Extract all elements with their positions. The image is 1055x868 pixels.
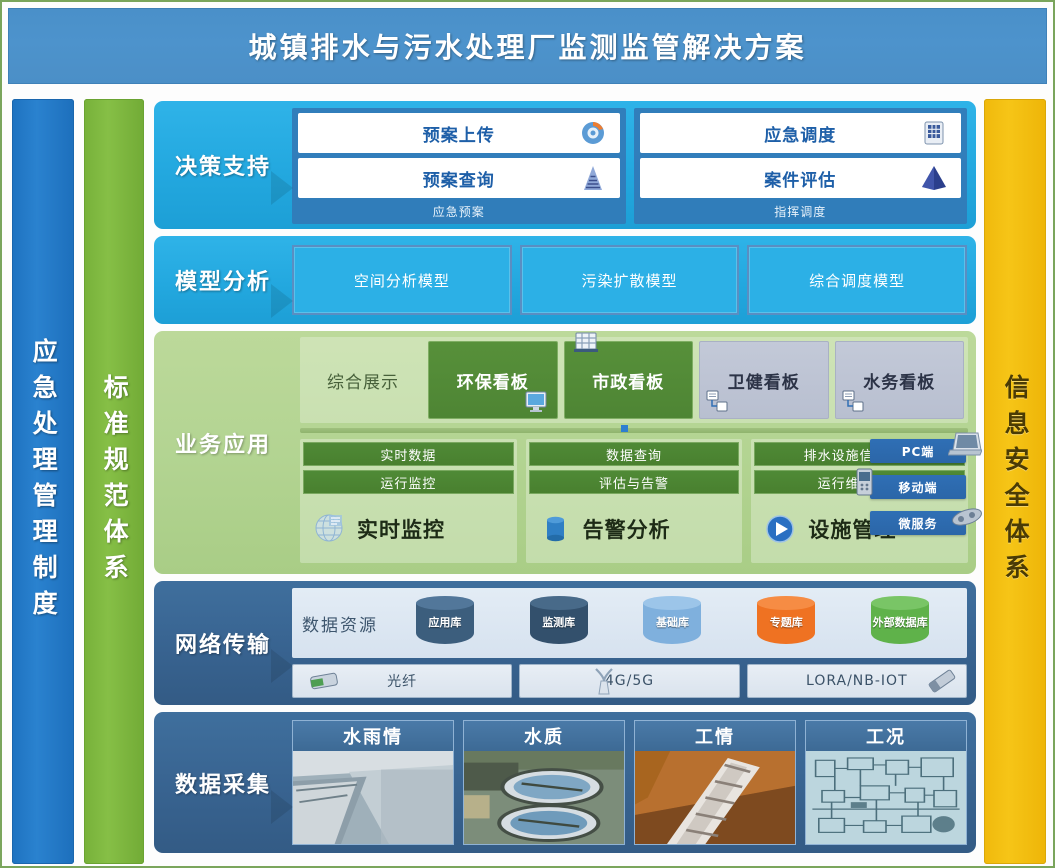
dashboard-title: 综合展示 <box>304 341 422 419</box>
transport-4g5g[interactable]: 4G/5G <box>519 664 739 698</box>
decision-group-command-dispatch-caption: 指挥调度 <box>640 203 962 222</box>
title-banner: 城镇排水与污水处理厂监测监管解决方案 <box>8 8 1047 84</box>
pyramid-layers-icon <box>578 163 608 193</box>
layer-model-analysis: 模型分析 空间分析模型 污染扩散模型 综合调度模型 <box>154 236 976 324</box>
laptop-icon <box>948 430 982 458</box>
dashboard-row: 综合展示 环保看板 市政看板 <box>300 337 968 423</box>
data-collection-item-hydrology[interactable]: 水雨情 <box>292 720 454 845</box>
grid-table-icon <box>919 118 949 148</box>
transport-lora-nbiot[interactable]: LORA/NB-IOT <box>747 664 967 698</box>
layer-stack: 决策支持 预案上传 <box>154 101 976 864</box>
page-title: 城镇排水与污水处理厂监测监管解决方案 <box>248 26 806 66</box>
database-foundation[interactable]: 基础库 <box>643 596 701 650</box>
business-feature-alarm-analysis[interactable]: 告警分析 <box>529 498 740 560</box>
model-item-pollution-diffusion[interactable]: 污染扩散模型 <box>520 245 740 315</box>
monitor-icon <box>523 388 549 414</box>
globe-icon <box>309 509 349 549</box>
sidebar-emergency-management: 应急处理管理制度 <box>12 99 74 864</box>
decision-item-plan-upload[interactable]: 预案上传 <box>298 113 620 153</box>
building-icon <box>573 330 599 356</box>
diagram-canvas: 城镇排水与污水处理厂监测监管解决方案 应急处理管理制度 标准规范体系 信息安全体… <box>0 0 1055 868</box>
sidebar-security-label: 信息安全体系 <box>1002 374 1028 590</box>
decision-item-case-evaluation[interactable]: 案件评估 <box>640 158 962 198</box>
sidebar-emergency-label: 应急处理管理制度 <box>30 338 56 626</box>
business-chip-realtime-data[interactable]: 实时数据 <box>303 442 514 466</box>
dashboard-card-municipal[interactable]: 市政看板 <box>564 341 694 419</box>
layer-business-application: 业务应用 综合展示 环保看板 <box>154 331 976 574</box>
network-node-icon <box>704 388 730 414</box>
device-pc-button[interactable]: PC端 <box>870 439 966 463</box>
play-circle-icon <box>760 509 800 549</box>
device-mobile-button[interactable]: 移动端 <box>870 475 966 499</box>
antenna-icon <box>592 666 616 696</box>
data-resource-strip: 数据资源 应用库 监测库 基础库 <box>292 588 967 658</box>
pyramid-3d-icon <box>919 163 949 193</box>
data-resource-title: 数据资源 <box>302 611 378 636</box>
mobile-phone-icon <box>854 467 876 497</box>
sedimentation-tanks-photo <box>464 751 624 844</box>
database-monitoring[interactable]: 监测库 <box>530 596 588 650</box>
dashboard-card-municipal-label: 市政看板 <box>592 368 664 393</box>
decision-group-emergency-plan-caption: 应急预案 <box>298 203 620 222</box>
transport-lora-nbiot-label: LORA/NB-IOT <box>806 673 908 689</box>
decision-group-command-dispatch: 应急调度 案件评估 <box>634 108 968 224</box>
database-thematic[interactable]: 专题库 <box>757 596 815 650</box>
sidebar-standards-system: 标准规范体系 <box>84 99 144 864</box>
device-microservice-label: 微服务 <box>898 515 937 532</box>
transport-fiber-label: 光纤 <box>387 671 417 691</box>
database-external-label: 外部数据库 <box>871 596 929 650</box>
business-chip-operation-monitoring[interactable]: 运行监控 <box>303 470 514 494</box>
data-collection-item-water-quality-label: 水质 <box>464 721 624 751</box>
decision-item-emergency-dispatch[interactable]: 应急调度 <box>640 113 962 153</box>
layer-decision-support-label: 决策支持 <box>154 101 292 229</box>
scada-schematic-photo <box>806 751 966 844</box>
layer-data-collection-label: 数据采集 <box>154 712 292 853</box>
business-columns: 实时数据 运行监控 <box>300 439 968 563</box>
sidebar-standards-label: 标准规范体系 <box>101 374 127 590</box>
network-node-icon <box>840 388 866 414</box>
layer-model-analysis-label: 模型分析 <box>154 236 292 324</box>
layer-business-application-label: 业务应用 <box>154 427 292 459</box>
database-application-label: 应用库 <box>416 596 474 650</box>
database-icon <box>535 509 575 549</box>
data-collection-item-operating-condition[interactable]: 工况 <box>805 720 967 845</box>
fiber-optic-icon <box>307 668 341 694</box>
decision-item-plan-query-label: 预案查询 <box>423 166 495 191</box>
dashboard-card-environment[interactable]: 环保看板 <box>428 341 558 419</box>
business-feature-realtime-monitoring[interactable]: 实时监控 <box>303 498 514 560</box>
transport-fiber[interactable]: 光纤 <box>292 664 512 698</box>
layer-data-collection: 数据采集 水雨情 <box>154 712 976 853</box>
decision-group-emergency-plan: 预案上传 预案查询 <box>292 108 626 224</box>
dashboard-card-water-affairs-label: 水务看板 <box>863 368 935 393</box>
model-item-spatial[interactable]: 空间分析模型 <box>292 245 512 315</box>
data-collection-item-engineering-status-label: 工情 <box>635 721 795 751</box>
sidebar-security-system: 信息安全体系 <box>984 99 1046 864</box>
decision-item-emergency-dispatch-label: 应急调度 <box>764 121 836 146</box>
dashboard-divider <box>300 428 968 433</box>
decision-item-plan-query[interactable]: 预案查询 <box>298 158 620 198</box>
dashboard-card-water-affairs[interactable]: 水务看板 <box>835 341 965 419</box>
business-chip-evaluation-alarm[interactable]: 评估与告警 <box>529 470 740 494</box>
pipeline-trench-photo <box>635 751 795 844</box>
river-channel-photo <box>293 751 453 844</box>
database-thematic-label: 专题库 <box>757 596 815 650</box>
dashboard-card-health-label: 卫健看板 <box>728 368 800 393</box>
data-collection-item-water-quality[interactable]: 水质 <box>463 720 625 845</box>
model-item-integrated-dispatch[interactable]: 综合调度模型 <box>747 245 967 315</box>
service-device-icon <box>950 505 984 529</box>
transport-strip: 光纤 4G/5G LORA/NB-IOT <box>292 664 967 698</box>
decision-item-plan-upload-label: 预案上传 <box>423 121 495 146</box>
layer-decision-support: 决策支持 预案上传 <box>154 101 976 229</box>
business-feature-alarm-analysis-label: 告警分析 <box>583 514 671 544</box>
device-endpoints: PC端 移动端 <box>870 439 966 547</box>
upload-cycle-icon <box>578 118 608 148</box>
data-collection-item-operating-condition-label: 工况 <box>806 721 966 751</box>
decision-item-case-evaluation-label: 案件评估 <box>764 166 836 191</box>
business-feature-realtime-monitoring-label: 实时监控 <box>357 514 445 544</box>
dashboard-card-environment-label: 环保看板 <box>457 368 529 393</box>
data-collection-item-hydrology-label: 水雨情 <box>293 721 453 751</box>
device-mobile-label: 移动端 <box>898 479 937 496</box>
business-column-monitoring: 实时数据 运行监控 <box>300 439 517 563</box>
layer-network-transmission: 网络传输 数据资源 应用库 监测库 <box>154 581 976 705</box>
device-microservice-button[interactable]: 微服务 <box>870 511 966 535</box>
sensor-module-icon <box>924 666 960 696</box>
device-pc-label: PC端 <box>902 443 935 460</box>
database-external[interactable]: 外部数据库 <box>871 596 929 650</box>
database-foundation-label: 基础库 <box>643 596 701 650</box>
database-application[interactable]: 应用库 <box>416 596 474 650</box>
dashboard-card-health[interactable]: 卫健看板 <box>699 341 829 419</box>
business-chip-data-query[interactable]: 数据查询 <box>529 442 740 466</box>
data-collection-item-engineering-status[interactable]: 工情 <box>634 720 796 845</box>
layer-network-transmission-label: 网络传输 <box>154 581 292 705</box>
database-monitoring-label: 监测库 <box>530 596 588 650</box>
business-column-alarm: 数据查询 评估与告警 告警分析 <box>526 439 743 563</box>
